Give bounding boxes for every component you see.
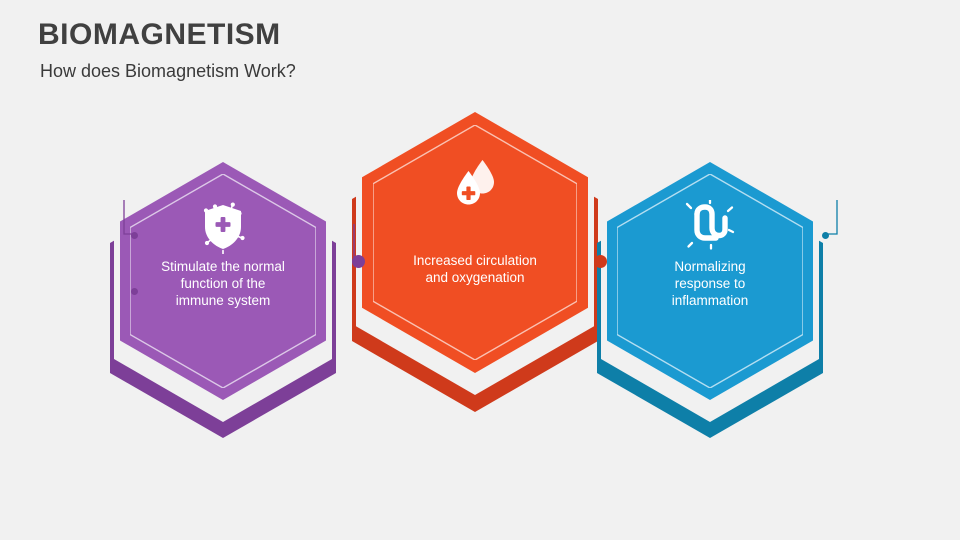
connector-left-bracket — [120, 190, 140, 300]
node-2-label: Increased circulation and oxygenation — [362, 252, 588, 286]
node-2-icon-wrap — [362, 157, 588, 214]
page-title: BIOMAGNETISM — [38, 18, 281, 52]
diagram-node-2[interactable]: Increased circulation and oxygenation — [352, 112, 612, 412]
intestine-inflammation-icon — [683, 237, 737, 254]
blood-drop-plus-icon — [449, 196, 501, 213]
node-3-icon-wrap — [607, 200, 813, 255]
connector-dot-node1-bottom — [131, 288, 138, 295]
node-3-label: Normalizing response to inflammation — [607, 258, 813, 309]
hexagon-process-diagram: Stimulate the normal function of the imm… — [0, 100, 960, 440]
connector-dot-left — [131, 232, 138, 239]
connector-right-bracket — [820, 190, 842, 300]
node-1-label: Stimulate the normal function of the imm… — [120, 258, 326, 309]
diagram-node-1[interactable]: Stimulate the normal function of the imm… — [110, 162, 370, 462]
diagram-node-3[interactable]: Normalizing response to inflammation — [597, 162, 857, 462]
page-subtitle: How does Biomagnetism Work? — [40, 61, 296, 82]
connector-line-2-3 — [582, 210, 610, 270]
slide: BIOMAGNETISM How does Biomagnetism Work? — [0, 0, 960, 540]
connector-dot-right — [822, 232, 829, 239]
shield-virus-icon — [196, 241, 250, 258]
node-1-icon-wrap — [120, 200, 326, 259]
connector-line-1-2 — [340, 210, 368, 270]
